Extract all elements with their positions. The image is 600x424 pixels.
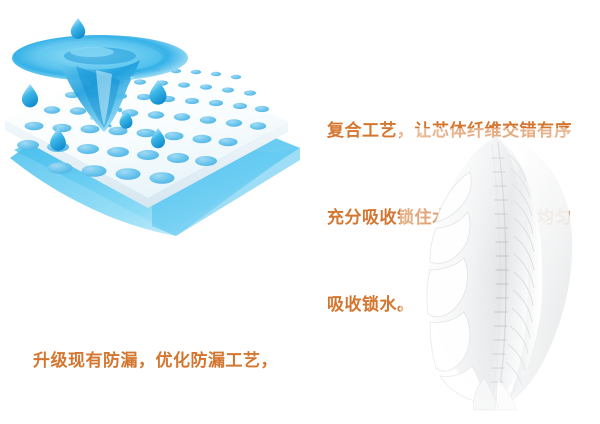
leakguard-copy-line-1: 升级现有防漏，优化防漏工艺， xyxy=(33,346,278,375)
droplet xyxy=(22,84,38,107)
absorbent-layer-illustration xyxy=(0,0,310,250)
product-feature-page: 复合工艺，让芯体纤维交错有序 充分吸收锁住水分，长时间均匀 吸收锁水。 升级现有… xyxy=(0,0,600,424)
leakguard-copy-block: 升级现有防漏，优化防漏工艺， 既保持防漏贴身舒适，有可帮助 预防测漏。防测漏，更… xyxy=(33,288,278,424)
droplet xyxy=(71,18,85,39)
leak-guard-cuff-photo xyxy=(400,128,600,413)
